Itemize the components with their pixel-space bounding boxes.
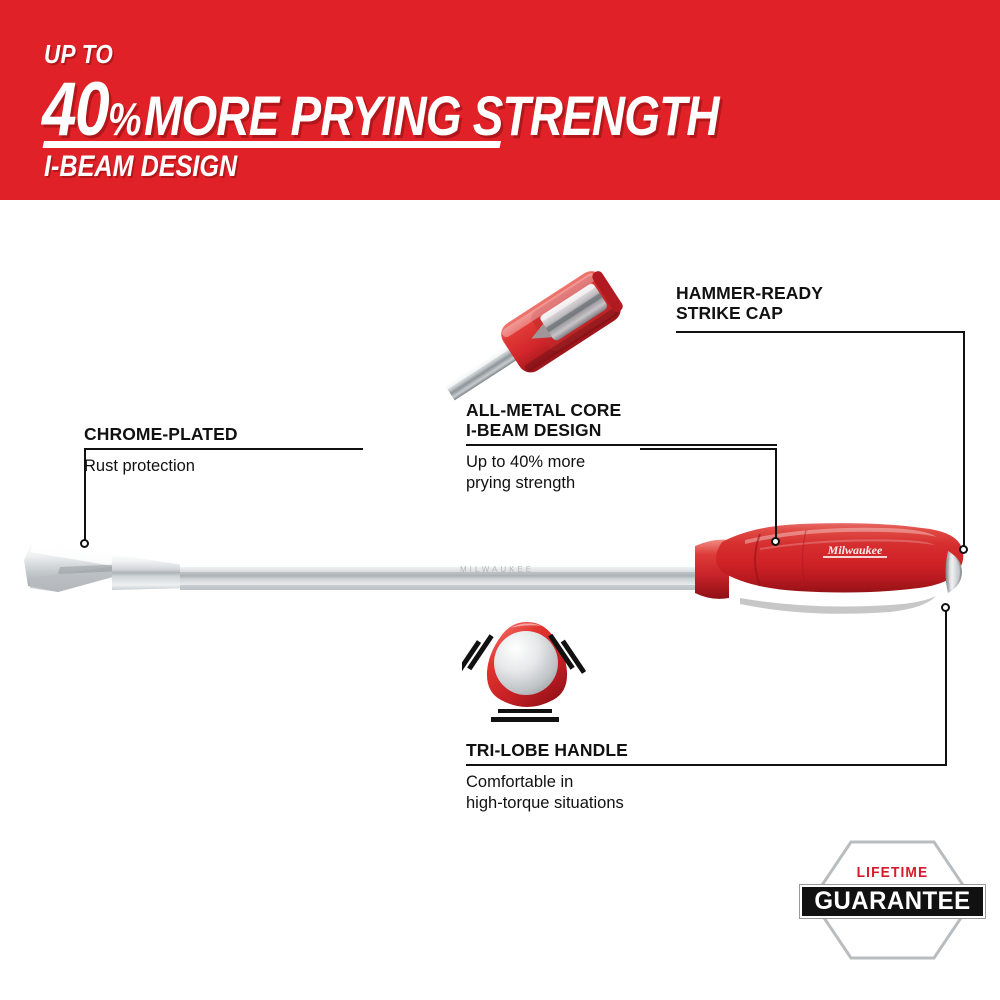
banner-headline: 40%MORE PRYING STRENGTH — [42, 72, 719, 148]
callout-all-metal-core-body-line1: Up to 40% more — [466, 452, 778, 473]
callout-chrome-plated: CHROME-PLATED Rust protection — [84, 424, 364, 477]
callout-all-metal-core-rule — [466, 444, 777, 446]
callout-tri-lobe-body-line2: high-torque situations — [466, 793, 766, 814]
callout-chrome-plated-body: Rust protection — [84, 456, 364, 477]
pry-bar-tip — [24, 540, 126, 592]
handle-brand-text: Milwaukee — [827, 543, 883, 557]
pry-bar-shaft: MILWAUKEE — [180, 561, 710, 590]
banner-eyebrow: UP TO — [44, 41, 113, 67]
motion-dashes-bottom — [491, 709, 559, 722]
callout-all-metal-core: ALL-METAL CORE I-BEAM DESIGN Up to 40% m… — [466, 400, 778, 494]
banner-subtitle: I-BEAM DESIGN — [44, 152, 237, 182]
product-handle: Milwaukee — [695, 523, 963, 614]
leader-line-hammer-ready-vertical — [963, 331, 965, 549]
strike-cap — [946, 551, 963, 593]
leader-line-hammer-ready-horizontal — [676, 331, 965, 333]
leader-dot-hammer-ready — [959, 545, 968, 554]
badge-lifetime-text: LIFETIME — [817, 864, 969, 881]
shaft-etch-text: MILWAUKEE — [460, 565, 534, 574]
badge-guarantee-bar: GUARANTEE — [800, 885, 985, 918]
lobe-core-circle — [494, 631, 558, 695]
callout-all-metal-core-body-line2: prying strength — [466, 473, 778, 494]
banner-number: 40 — [42, 67, 108, 152]
banner-headline-rest: MORE PRYING STRENGTH — [144, 84, 719, 147]
leader-line-tri-lobe-vertical — [945, 608, 947, 766]
callout-all-metal-core-heading-line1: ALL-METAL CORE — [466, 400, 778, 420]
lifetime-guarantee-badge: LIFETIME GUARANTEE — [810, 840, 975, 960]
callout-tri-lobe: TRI-LOBE HANDLE Comfortable in high-torq… — [466, 740, 766, 814]
callout-all-metal-core-heading-line2: I-BEAM DESIGN — [466, 420, 778, 440]
pry-bar-neck — [112, 554, 195, 590]
cutaway-inset — [435, 265, 627, 417]
callout-tri-lobe-heading: TRI-LOBE HANDLE — [466, 740, 766, 760]
banner-divider — [43, 141, 501, 148]
badge-guarantee-text: GUARANTEE — [806, 887, 980, 916]
leader-dot-all-metal-core — [771, 537, 780, 546]
callout-hammer-ready: HAMMER-READY STRIKE CAP — [676, 283, 967, 323]
header-banner: UP TO 40%MORE PRYING STRENGTH I-BEAM DES… — [0, 0, 1000, 200]
leader-dot-chrome-plated — [80, 539, 89, 548]
callout-tri-lobe-body-line1: Comfortable in — [466, 772, 766, 793]
callout-tri-lobe-rule — [466, 764, 765, 766]
tri-lobe-cross-section-graphic — [462, 608, 592, 728]
callout-hammer-ready-heading-line2: STRIKE CAP — [676, 303, 967, 323]
banner-percent: % — [108, 93, 141, 145]
leader-dot-tri-lobe — [941, 603, 950, 612]
callout-hammer-ready-heading-line1: HAMMER-READY — [676, 283, 967, 303]
callout-chrome-plated-rule — [84, 448, 363, 450]
callout-chrome-plated-heading: CHROME-PLATED — [84, 424, 364, 444]
